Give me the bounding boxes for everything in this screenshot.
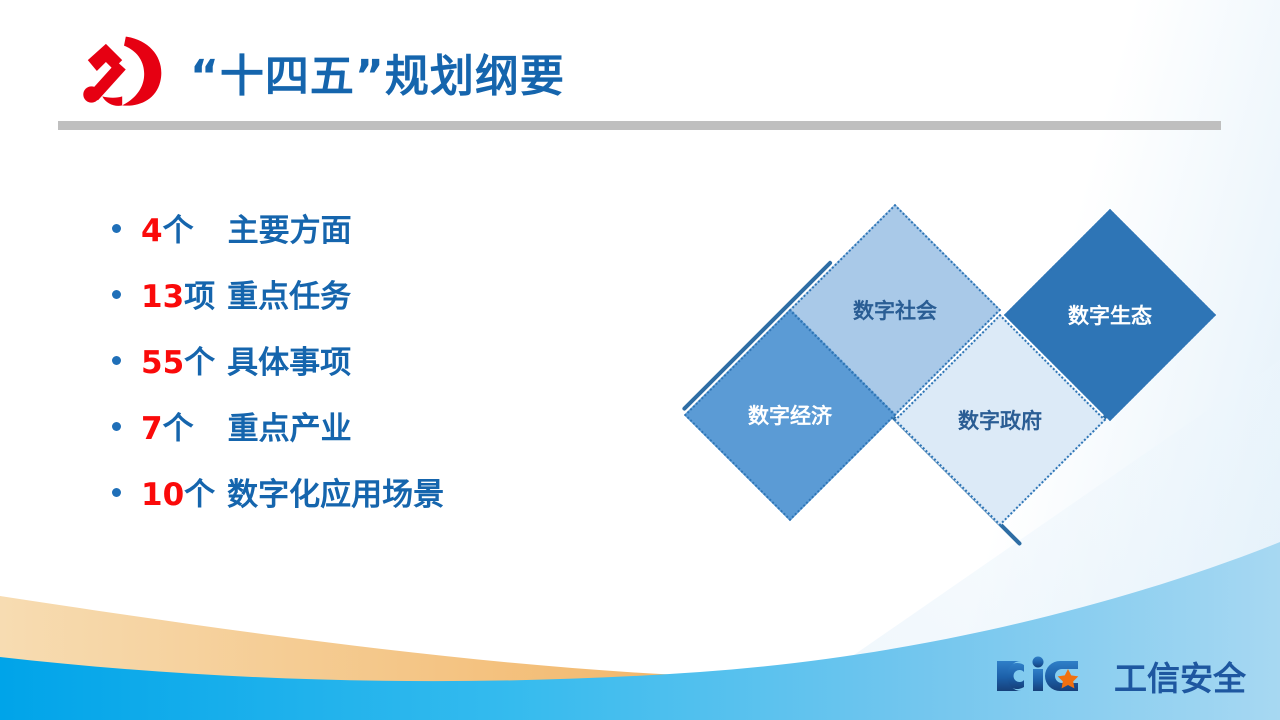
diagram-node-label: 数字政府 bbox=[958, 405, 1042, 435]
bullet-number: 55 bbox=[141, 345, 184, 381]
bullet-label: 数字化应用场景 bbox=[227, 469, 444, 514]
header-divider bbox=[58, 121, 1221, 130]
cic-logo-icon bbox=[992, 655, 1110, 697]
bullet-label: 具体事项 bbox=[227, 337, 351, 382]
list-item: 4 个 主要方面 bbox=[112, 205, 632, 271]
bullet-label: 重点任务 bbox=[227, 271, 351, 316]
bullet-unit: 个 bbox=[163, 403, 194, 448]
bullet-number: 10 bbox=[141, 477, 184, 513]
bullet-number: 13 bbox=[141, 279, 184, 315]
slide-root: “十四五”规划纲要 4 个 主要方面 13 项 重点任务 55 个 具体事项 bbox=[0, 0, 1280, 720]
bullet-dot-icon bbox=[112, 488, 121, 497]
bullet-dot-icon bbox=[112, 422, 121, 431]
bullet-label: 重点产业 bbox=[228, 403, 352, 448]
bullet-label: 主要方面 bbox=[228, 205, 352, 250]
bullet-unit: 个 bbox=[163, 205, 194, 250]
list-item: 55 个 具体事项 bbox=[112, 337, 632, 403]
footer-logo: 工信安全 bbox=[992, 652, 1246, 700]
digital-pillars-diagram: 数字社会 数字经济 数字政府 数字生态 bbox=[665, 200, 1225, 550]
logo-text: 工信安全 bbox=[1114, 652, 1246, 700]
bullet-dot-icon bbox=[112, 290, 121, 299]
page-title: “十四五”规划纲要 bbox=[190, 40, 565, 104]
bullet-unit: 个 bbox=[184, 469, 215, 514]
diagram-node-label: 数字生态 bbox=[1068, 300, 1152, 330]
bullet-number: 4 bbox=[141, 213, 163, 249]
list-item: 10 个 数字化应用场景 bbox=[112, 469, 632, 535]
diagram-node-label: 数字社会 bbox=[853, 295, 937, 325]
party-emblem-hammer-sickle-icon bbox=[78, 33, 170, 109]
slide-header: “十四五”规划纲要 bbox=[0, 0, 1280, 130]
list-item: 13 项 重点任务 bbox=[112, 271, 632, 337]
bullet-unit: 个 bbox=[184, 337, 215, 382]
bullet-dot-icon bbox=[112, 224, 121, 233]
bullet-dot-icon bbox=[112, 356, 121, 365]
bullet-unit: 项 bbox=[184, 271, 215, 316]
bullet-number: 7 bbox=[141, 411, 163, 447]
summary-bullet-list: 4 个 主要方面 13 项 重点任务 55 个 具体事项 7 个 重点产业 bbox=[112, 205, 632, 535]
diagram-node-label: 数字经济 bbox=[748, 400, 832, 430]
list-item: 7 个 重点产业 bbox=[112, 403, 632, 469]
